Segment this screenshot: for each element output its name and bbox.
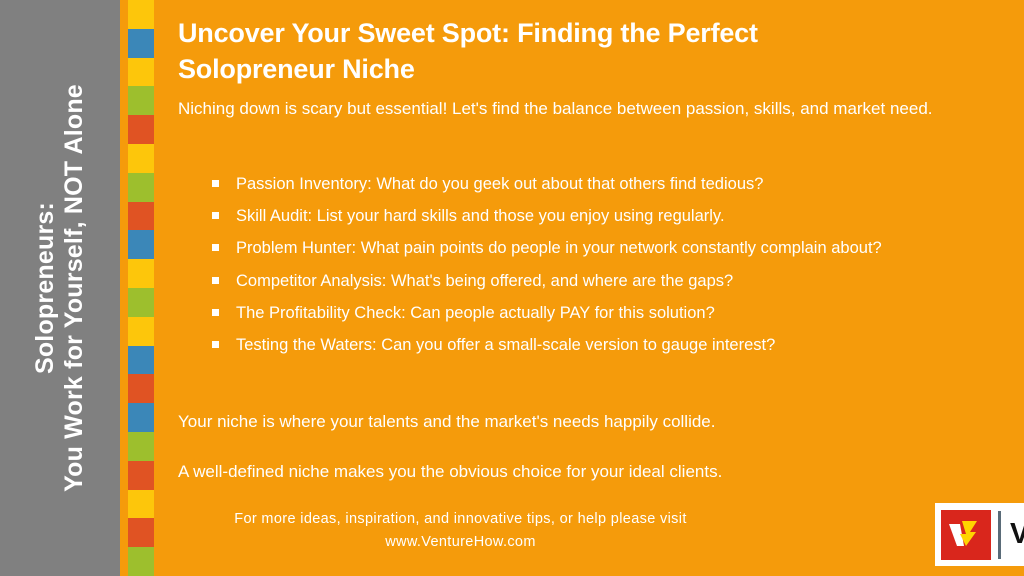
venturehow-logo-mark-icon: [941, 510, 991, 560]
bullet-item: Skill Audit: List your hard skills and t…: [208, 200, 998, 232]
bullet-square-icon: [212, 180, 219, 187]
bullet-square-icon: [212, 212, 219, 219]
bullet-square-icon: [212, 244, 219, 251]
color-chip: [128, 115, 154, 144]
color-chip: [128, 29, 154, 58]
bullet-item-label: The Profitability Check: Can people actu…: [236, 304, 715, 322]
color-chip: [128, 317, 154, 346]
bullet-item: The Profitability Check: Can people actu…: [208, 297, 998, 329]
slide-canvas: Solopreneurs: You Work for Yourself, NOT…: [0, 0, 1024, 576]
color-chip: [128, 259, 154, 288]
bullet-item-label: Problem Hunter: What pain points do peop…: [236, 239, 882, 257]
bullet-square-icon: [212, 309, 219, 316]
color-chip: [128, 230, 154, 259]
color-chip: [128, 346, 154, 375]
bullet-item-label: Testing the Waters: Can you offer a smal…: [236, 336, 775, 354]
logo-wordmark: VentureHow.com: [1010, 518, 1024, 551]
bullet-item-label: Competitor Analysis: What's being offere…: [236, 272, 733, 290]
outro-line: Your niche is where your talents and the…: [178, 408, 996, 435]
color-chip: [128, 58, 154, 87]
bullet-item-label: Passion Inventory: What do you geek out …: [236, 175, 763, 193]
footer-note: For more ideas, inspiration, and innovat…: [188, 508, 733, 555]
venturehow-logo[interactable]: VentureHow.com: [935, 503, 1024, 566]
sidebar-vertical-title: Solopreneurs: You Work for Yourself, NOT…: [0, 0, 120, 576]
color-chip: [128, 461, 154, 490]
color-chip: [128, 490, 154, 519]
sidebar-band: Solopreneurs: You Work for Yourself, NOT…: [0, 0, 120, 576]
bullet-square-icon: [212, 277, 219, 284]
slide-title: Uncover Your Sweet Spot: Finding the Per…: [178, 16, 868, 88]
color-chip: [128, 0, 154, 29]
color-chip-strip: [128, 0, 154, 576]
color-chip: [128, 518, 154, 547]
logo-divider: [998, 511, 1001, 559]
outro-paragraphs: Your niche is where your talents and the…: [178, 408, 996, 508]
bullet-item-label: Skill Audit: List your hard skills and t…: [236, 207, 725, 225]
color-chip: [128, 144, 154, 173]
color-chip: [128, 547, 154, 576]
bullet-square-icon: [212, 341, 219, 348]
color-chip: [128, 202, 154, 231]
bullet-item: Problem Hunter: What pain points do peop…: [208, 232, 998, 264]
slide-content: Uncover Your Sweet Spot: Finding the Per…: [178, 0, 1024, 576]
color-chip: [128, 86, 154, 115]
bullet-item: Testing the Waters: Can you offer a smal…: [208, 329, 998, 361]
logo-wordmark-bold: Venture: [1010, 518, 1024, 550]
color-chip: [128, 374, 154, 403]
footer-note-line-2: www.VentureHow.com: [188, 531, 733, 554]
color-chip: [128, 173, 154, 202]
color-chip: [128, 432, 154, 461]
color-chip: [128, 288, 154, 317]
footer-note-line-1: For more ideas, inspiration, and innovat…: [188, 508, 733, 531]
outro-line: A well-defined niche makes you the obvio…: [178, 458, 996, 485]
bullet-item: Competitor Analysis: What's being offere…: [208, 265, 998, 297]
slide-intro-paragraph: Niching down is scary but essential! Let…: [178, 95, 996, 123]
bullet-list: Passion Inventory: What do you geek out …: [208, 168, 998, 361]
color-chip: [128, 403, 154, 432]
bullet-item: Passion Inventory: What do you geek out …: [208, 168, 998, 200]
